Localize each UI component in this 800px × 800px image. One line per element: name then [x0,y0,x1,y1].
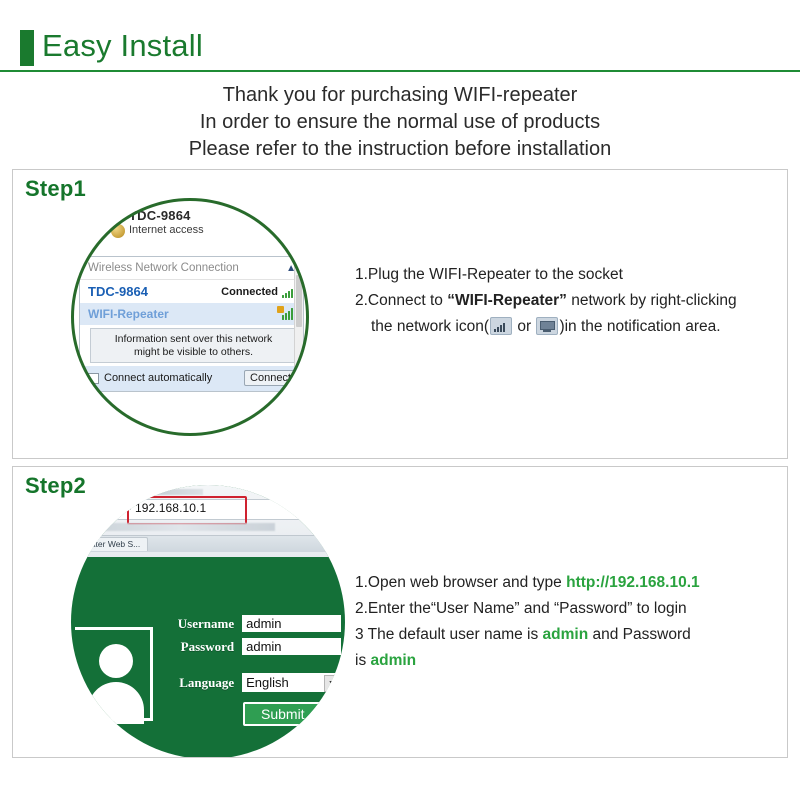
step2-instruction-2: 2.Enter the“User Name” and “Password” to… [355,596,785,622]
avatar-body [88,682,144,724]
router-url-link[interactable]: http://192.168.10.1 [566,574,700,591]
step1-instructions: 1.Plug the WIFI-Repeater to the socket 2… [355,262,785,340]
step2-instruction-1: 1.Open web browser and type http://192.1… [355,570,785,596]
submit-button[interactable]: Submit [243,702,323,726]
address-bar-icon: ▾ [128,502,133,513]
chevron-down-icon[interactable]: ▼ [324,675,339,692]
intro-line-2: In order to ensure the normal use of pro… [0,109,800,136]
language-label: Language [161,675,242,691]
instruction-2-prefix: 2.Connect to [355,292,447,309]
default-password-value: admin [371,652,417,669]
password-row: Password admin [161,638,341,655]
username-label: Username [161,616,242,632]
submit-row: Submit [161,702,341,726]
form-spacer [161,661,341,673]
browser-toolbar [85,523,275,531]
step2-instruction-4: is admin [355,648,785,674]
instruction-3-prefix: the network icon( [371,318,489,335]
intro-line-3: Please refer to the instruction before i… [0,136,800,163]
instruction-3-prefix: 3 The default user name is [355,626,543,643]
page-favicon-icon [89,501,101,513]
language-row: Language English ▼ [161,673,341,692]
step1-instruction-1: 1.Plug the WIFI-Repeater to the socket [355,262,785,288]
step1-instruction-3: the network icon( or )in the notificatio… [355,314,785,340]
instruction-3-suffix: )in the notification area. [559,318,720,335]
browser-tab[interactable]: ...eater Web S... [75,537,148,551]
header-accent-bar [20,30,34,66]
easy-install-guide: Easy Install Thank you for purchasing WI… [0,0,800,800]
browser-chrome: ▾ 192.168.10.1 ...eater Web S... [71,485,345,557]
intro-line-1: Thank you for purchasing WIFI-repeater [0,82,800,109]
header-divider [0,70,800,72]
instruction-2-suffix: network by right-clicking [567,292,737,309]
page-header: Easy Install [0,24,800,72]
browser-menu-bar [143,489,203,495]
step2-instruction-3: 3 The default user name is admin and Pas… [355,622,785,648]
step2-instructions: 1.Open web browser and type http://192.1… [355,570,785,674]
step1-label: Step1 [25,176,86,202]
address-bar-url: 192.168.10.1 [135,501,206,515]
signal-bars-icon [490,317,512,335]
avatar-head [99,644,133,678]
username-row: Username admin [161,615,341,632]
network-monitor-icon [536,317,558,335]
username-input[interactable]: admin [242,615,341,632]
instruction-1-prefix: 1.Open web browser and type [355,574,566,591]
user-avatar-icon [75,627,153,721]
intro-text: Thank you for purchasing WIFI-repeater I… [0,82,800,163]
instruction-2-emphasis: “WIFI-Repeater” [447,292,567,309]
default-username-value: admin [543,626,589,643]
instruction-4-prefix: is [355,652,371,669]
language-select[interactable]: English ▼ [242,673,341,692]
page-title: Easy Install [42,24,203,68]
password-input[interactable]: admin [242,638,341,655]
password-label: Password [161,639,242,655]
step1-circle-outline [71,198,309,436]
instruction-3-suffix: and Password [588,626,691,643]
step1-instruction-2: 2.Connect to “WIFI-Repeater” network by … [355,288,785,314]
instruction-3-or: or [513,318,535,335]
router-login-form: Username admin Password admin Language E… [161,615,341,726]
step2-illustration: ▾ 192.168.10.1 ...eater Web S... Usernam… [71,485,345,758]
language-selected-value: English [246,675,289,690]
